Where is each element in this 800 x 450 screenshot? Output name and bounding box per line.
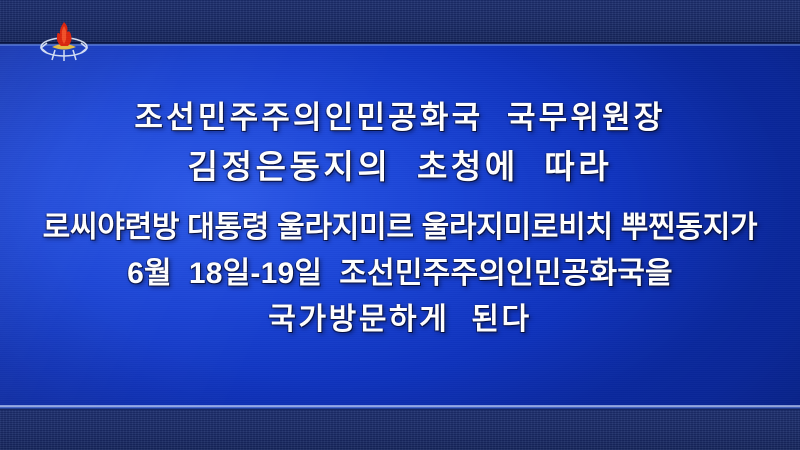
caption-title-line-2: 김정은동지의 초청에 따라 <box>0 150 800 183</box>
caption-body-line-2: 6월 18일-19일 조선민주주의인민공화국을 <box>0 259 800 289</box>
broadcast-caption-screen: 조선민주주의인민공화국 국무위원장 김정은동지의 초청에 따라 로씨야련방 대통… <box>0 0 800 450</box>
caption-text-stage: 조선민주주의인민공화국 국무위원장 김정은동지의 초청에 따라 로씨야련방 대통… <box>0 46 800 406</box>
letterbox-band-bottom <box>0 410 800 450</box>
letterbox-band-top <box>0 0 800 42</box>
caption-body-line-3: 국가방문하게 된다 <box>0 305 800 335</box>
caption-title-line-1: 조선민주주의인민공화국 국무위원장 <box>0 102 800 133</box>
caption-body-line-1: 로씨야련방 대통령 울라지미르 울라지미로비치 뿌찐동지가 <box>0 213 800 243</box>
